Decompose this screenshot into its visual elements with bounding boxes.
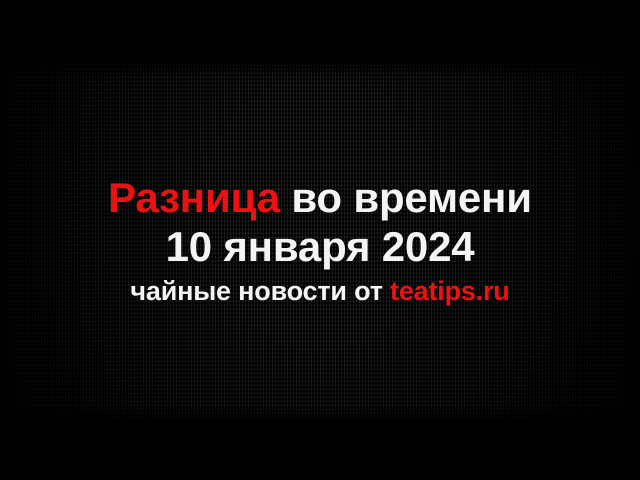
textured-background-band (0, 62, 640, 420)
edge-fade-overlay (0, 62, 640, 420)
title-card: Разница во времени 10 января 2024 чайные… (0, 0, 640, 480)
letterbox-bar-top (0, 0, 640, 62)
letterbox-bar-bottom (0, 420, 640, 480)
